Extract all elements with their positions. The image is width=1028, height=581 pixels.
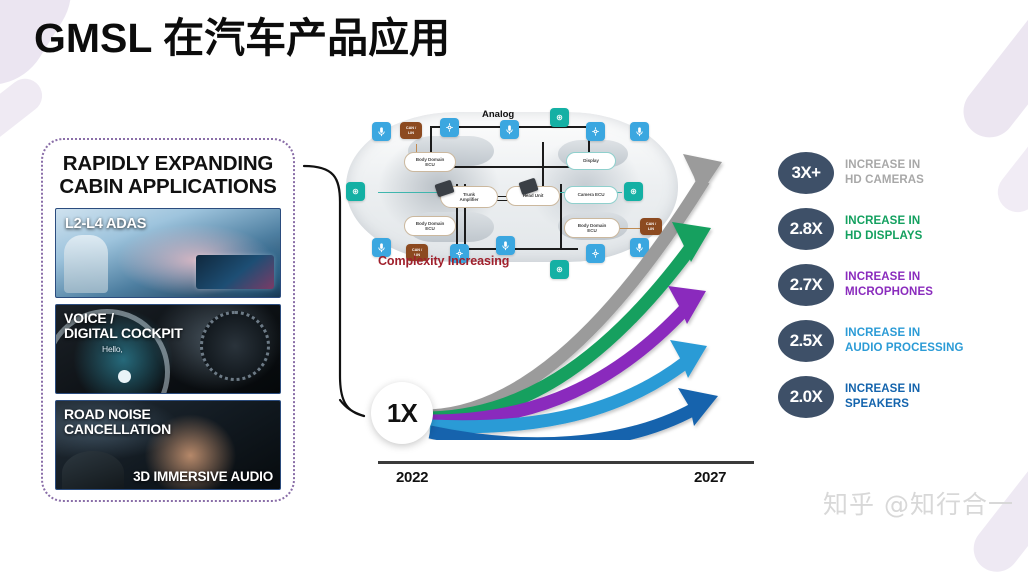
cabin-applications-heading: RAPIDLY EXPANDING CABIN APPLICATIONS bbox=[53, 153, 283, 199]
legend-label-audio-processing: INCREASE IN AUDIO PROCESSING bbox=[845, 326, 964, 355]
legend-item-speakers: 2.0X INCREASE IN SPEAKERS bbox=[778, 376, 920, 418]
badge-microphones: 2.7X bbox=[778, 264, 834, 306]
can-lin-icon: CAN / LIN bbox=[400, 122, 422, 139]
speaker-icon bbox=[440, 118, 459, 137]
legend-label-speakers: INCREASE IN SPEAKERS bbox=[845, 382, 920, 411]
camera-icon bbox=[346, 182, 365, 201]
microphone-icon bbox=[372, 122, 391, 141]
page-title: GMSL 在汽车产品应用 bbox=[34, 4, 450, 64]
road-caption-line1: ROAD NOISE bbox=[64, 406, 151, 422]
decorative-shape-top-right-2 bbox=[990, 46, 1028, 220]
badge-hd-displays: 2.8X bbox=[778, 208, 834, 250]
legend-label-hd-cameras: INCREASE IN HD CAMERAS bbox=[845, 158, 924, 187]
cabin-heading-line1: RAPIDLY EXPANDING bbox=[63, 152, 273, 175]
road-noise-photo: ROAD NOISE CANCELLATION 3D IMMERSIVE AUD… bbox=[55, 400, 281, 490]
axis-label-start-year: 2022 bbox=[396, 469, 428, 486]
cabin-heading-line2: CABIN APPLICATIONS bbox=[59, 175, 276, 198]
voice-caption-line1: VOICE / bbox=[64, 310, 114, 326]
legend-line2: HD CAMERAS bbox=[845, 173, 924, 188]
cabin-applications-panel: RAPIDLY EXPANDING CABIN APPLICATIONS L2-… bbox=[41, 138, 295, 502]
legend-item-hd-cameras: 3X+ INCREASE IN HD CAMERAS bbox=[778, 152, 924, 194]
voice-cockpit-caption: VOICE / DIGITAL COCKPIT bbox=[64, 311, 183, 341]
badge-speakers: 2.0X bbox=[778, 376, 834, 418]
road-noise-caption: ROAD NOISE CANCELLATION bbox=[64, 407, 171, 437]
road-caption-line2: CANCELLATION bbox=[64, 421, 171, 437]
camera-icon bbox=[550, 108, 569, 127]
legend-line1: INCREASE IN bbox=[845, 158, 924, 173]
legend-line2: HD DISPLAYS bbox=[845, 229, 922, 244]
legend-line1: INCREASE IN bbox=[845, 382, 920, 397]
decorative-shape-top-left-2 bbox=[0, 72, 49, 154]
microphone-icon bbox=[630, 122, 649, 141]
legend-line2: SPEAKERS bbox=[845, 397, 920, 412]
immersive-audio-caption: 3D IMMERSIVE AUDIO bbox=[133, 470, 273, 484]
arrow-hd-cameras bbox=[430, 154, 722, 416]
voice-caption-line2: DIGITAL COCKPIT bbox=[64, 325, 183, 341]
legend-line2: AUDIO PROCESSING bbox=[845, 341, 964, 356]
legend-line1: INCREASE IN bbox=[845, 270, 933, 285]
microphone-glyph-icon bbox=[118, 370, 131, 383]
legend-item-hd-displays: 2.8X INCREASE IN HD DISPLAYS bbox=[778, 208, 922, 250]
cabin-photo-stack: L2-L4 ADAS VOICE / DIGITAL COCKPIT Hello… bbox=[55, 208, 281, 490]
badge-hd-cameras: 3X+ bbox=[778, 152, 834, 194]
legend-line2: MICROPHONES bbox=[845, 285, 933, 300]
watermark: 知乎 @知行合一 bbox=[823, 485, 1014, 521]
badge-audio-processing: 2.5X bbox=[778, 320, 834, 362]
baseline-1x-node: 1X bbox=[371, 382, 433, 444]
microphone-icon bbox=[500, 120, 519, 139]
legend-item-microphones: 2.7X INCREASE IN MICROPHONES bbox=[778, 264, 933, 306]
speaker-icon bbox=[586, 122, 605, 141]
legend-label-hd-displays: INCREASE IN HD DISPLAYS bbox=[845, 214, 922, 243]
adas-photo-caption: L2-L4 ADAS bbox=[65, 217, 146, 232]
adas-photo: L2-L4 ADAS bbox=[55, 208, 281, 298]
legend-line1: INCREASE IN bbox=[845, 326, 964, 341]
voice-cockpit-photo: VOICE / DIGITAL COCKPIT Hello, bbox=[55, 304, 281, 394]
axis-label-end-year: 2027 bbox=[694, 469, 726, 486]
decorative-shape-top-right-1 bbox=[953, 0, 1028, 148]
voice-hello-text: Hello, bbox=[102, 345, 123, 354]
growth-arrows-chart bbox=[374, 140, 784, 440]
legend-line1: INCREASE IN bbox=[845, 214, 922, 229]
chart-axis-line bbox=[378, 461, 754, 464]
analog-label: Analog bbox=[482, 109, 514, 120]
legend-label-microphones: INCREASE IN MICROPHONES bbox=[845, 270, 933, 299]
legend-item-audio-processing: 2.5X INCREASE IN AUDIO PROCESSING bbox=[778, 320, 964, 362]
